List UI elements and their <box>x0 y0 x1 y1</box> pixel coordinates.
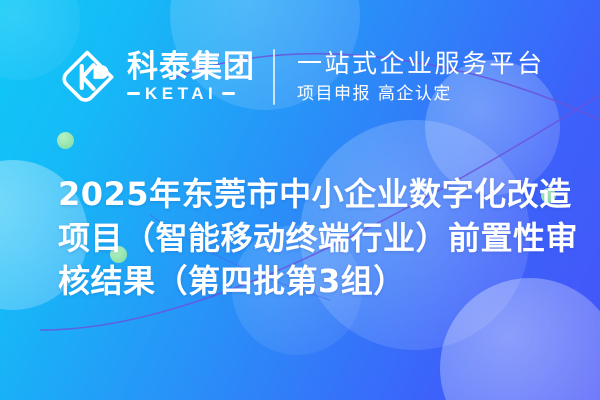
promo-banner: 科泰集团 KETAI 一站式企业服务平台 项目申报 高企认定 2025年东莞市中… <box>0 0 600 400</box>
brand-slogan: 一站式企业服务平台 项目申报 高企认定 <box>297 49 545 106</box>
slogan-secondary: 项目申报 高企认定 <box>297 83 545 105</box>
logo-rule-right <box>222 92 235 95</box>
header-divider <box>273 49 275 105</box>
ketai-kp-diamond-icon <box>60 48 118 106</box>
decorative-dot <box>57 132 74 149</box>
brand-name-cn: 科泰集团 <box>127 52 255 84</box>
page-title: 2025年东莞市中小企业数字化改造项目（智能移动终端行业）前置性审核结果（第四批… <box>58 173 578 304</box>
brand-logo[interactable]: 科泰集团 KETAI <box>60 48 255 106</box>
brand-name-en: KETAI <box>145 85 217 102</box>
banner-header: 科泰集团 KETAI 一站式企业服务平台 项目申报 高企认定 <box>0 38 600 116</box>
logo-rule-left <box>127 92 140 95</box>
slogan-primary: 一站式企业服务平台 <box>297 49 545 80</box>
